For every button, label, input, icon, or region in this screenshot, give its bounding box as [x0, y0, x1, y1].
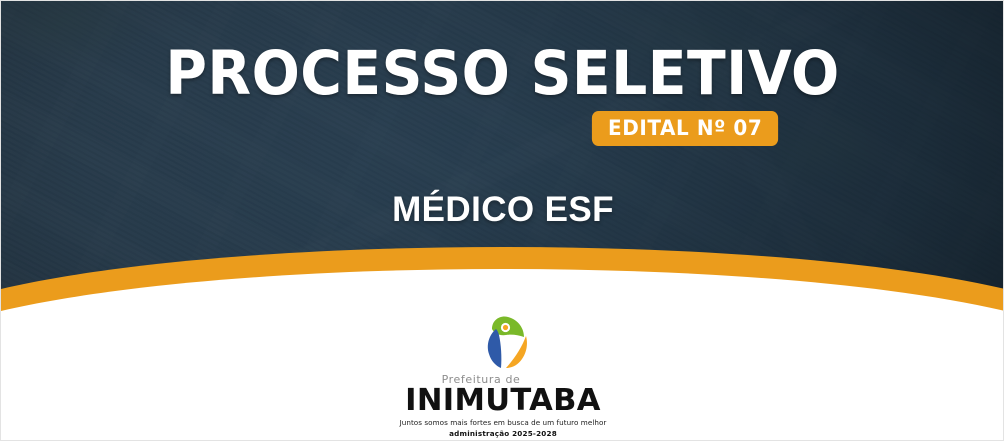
badge-row: EDITAL Nº 07: [223, 111, 783, 146]
city-hall-logo: Prefeitura de INIMUTABA Juntos somos mai…: [398, 348, 608, 437]
selection-process-banner: PROCESSO SELETIVO EDITAL Nº 07 MÉDICO ES…: [0, 0, 1004, 441]
logo-city-name: INIMUTABA: [396, 386, 610, 416]
page-title: PROCESSO SELETIVO: [166, 43, 840, 104]
edital-badge: EDITAL Nº 07: [592, 111, 779, 146]
logo-wordmark: Prefeitura de INIMUTABA Juntos somos mai…: [398, 348, 608, 437]
logo-administration: administração 2025-2028: [398, 430, 608, 437]
position-title: MÉDICO ESF: [392, 190, 614, 230]
logo-tagline: Juntos somos mais fortes em busca de um …: [398, 419, 608, 426]
footer: Prefeitura de INIMUTABA Juntos somos mai…: [1, 348, 1004, 440]
